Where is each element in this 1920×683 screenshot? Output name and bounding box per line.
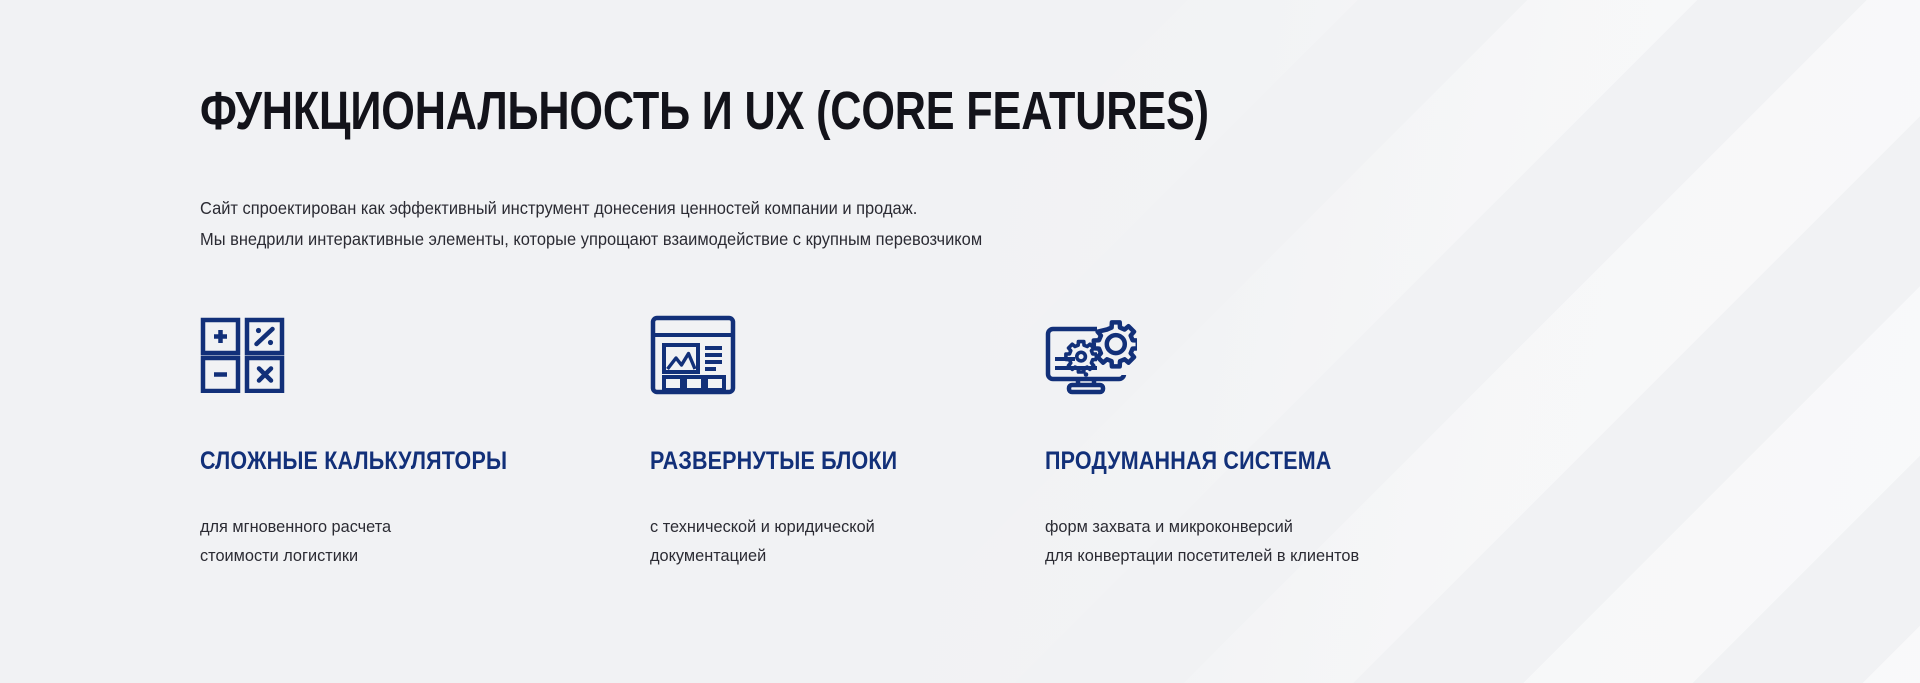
calculator-icon [200,312,650,398]
feature-card-blocks: РАЗВЕРНУТЫЕ БЛОКИ с технической и юридич… [650,312,1045,570]
feature-desc-line-1: форм захвата и микроконверсий [1045,512,1544,541]
feature-description-blocks: с технической и юридической документацие… [650,512,1029,570]
feature-description-system: форм захвата и микроконверсий для конвер… [1045,512,1544,570]
intro-paragraph: Сайт спроектирован как эффективный инстр… [200,193,982,255]
feature-desc-line-2: для конвертации посетителей в клиентов [1045,541,1544,570]
feature-description-calculators: для мгновенного расчета стоимости логист… [200,512,632,570]
slide-page: ФУНКЦИОНАЛЬНОСТЬ И UX (CORE FEATURES) Са… [0,0,1920,683]
feature-columns: СЛОЖНЫЕ КАЛЬКУЛЯТОРЫ для мгновенного рас… [200,312,1760,570]
page-title: ФУНКЦИОНАЛЬНОСТЬ И UX (CORE FEATURES) [200,84,1209,138]
feature-desc-line-1: с технической и юридической [650,512,1029,541]
feature-desc-line-2: стоимости логистики [200,541,632,570]
feature-desc-line-2: документацией [650,541,1029,570]
feature-card-system: ПРОДУМАННАЯ СИСТЕМА форм захвата и микро… [1045,312,1565,570]
intro-line-1: Сайт спроектирован как эффективный инстр… [200,193,982,224]
feature-card-calculators: СЛОЖНЫЕ КАЛЬКУЛЯТОРЫ для мгновенного рас… [200,312,650,570]
feature-title-calculators: СЛОЖНЫЕ КАЛЬКУЛЯТОРЫ [200,449,587,474]
feature-desc-line-1: для мгновенного расчета [200,512,632,541]
monitor-gears-icon [1045,312,1565,398]
feature-title-system: ПРОДУМАННАЯ СИСТЕМА [1045,449,1492,474]
feature-title-blocks: РАЗВЕРНУТЫЕ БЛОКИ [650,449,990,474]
webpage-layout-icon [650,312,1045,398]
intro-line-2: Мы внедрили интерактивные элементы, кото… [200,224,982,255]
